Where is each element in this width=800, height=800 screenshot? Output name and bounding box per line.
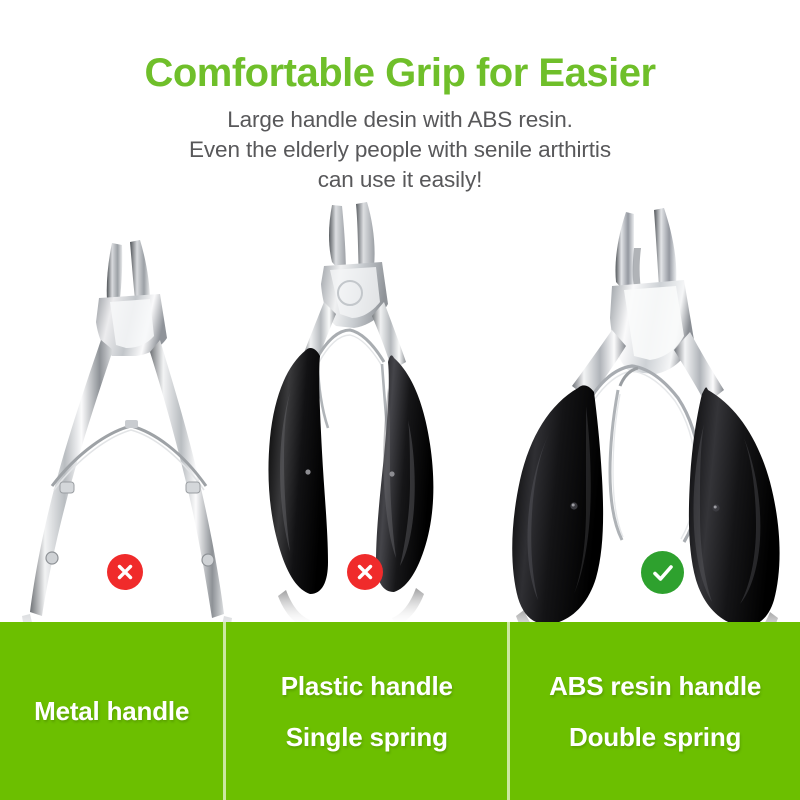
caption-line-2: Double spring — [569, 724, 741, 750]
check-glyph — [650, 560, 676, 586]
page-title: Comfortable Grip for Easier — [0, 52, 800, 95]
caption-cell-abs-resin-handle: ABS resin handle Double spring — [510, 622, 800, 800]
caption-line-2: Single spring — [286, 724, 448, 750]
plastic-handle-nipper-illustration — [266, 190, 508, 622]
caption-cell-plastic-handle: Plastic handle Single spring — [226, 622, 507, 800]
cross-circle-icon — [107, 554, 143, 590]
cross-glyph — [115, 562, 135, 582]
cross-circle-icon — [347, 554, 383, 590]
cross-glyph — [355, 562, 375, 582]
header: Comfortable Grip for Easier Large handle… — [0, 0, 800, 194]
caption-line-1: Plastic handle — [281, 673, 453, 699]
caption-line-1: ABS resin handle — [549, 673, 761, 699]
subtitle-line-2: Even the elderly people with senile arth… — [0, 135, 800, 165]
caption-band: Metal handle Plastic handle Single sprin… — [0, 622, 800, 800]
caption-line-1: Metal handle — [34, 698, 189, 724]
product-image-plastic-handle — [266, 190, 508, 622]
subtitle-line-1: Large handle desin with ABS resin. — [0, 105, 800, 135]
product-comparison-poster: Comfortable Grip for Easier Large handle… — [0, 0, 800, 800]
check-circle-icon — [641, 551, 684, 594]
caption-cell-metal-handle: Metal handle — [0, 622, 223, 800]
